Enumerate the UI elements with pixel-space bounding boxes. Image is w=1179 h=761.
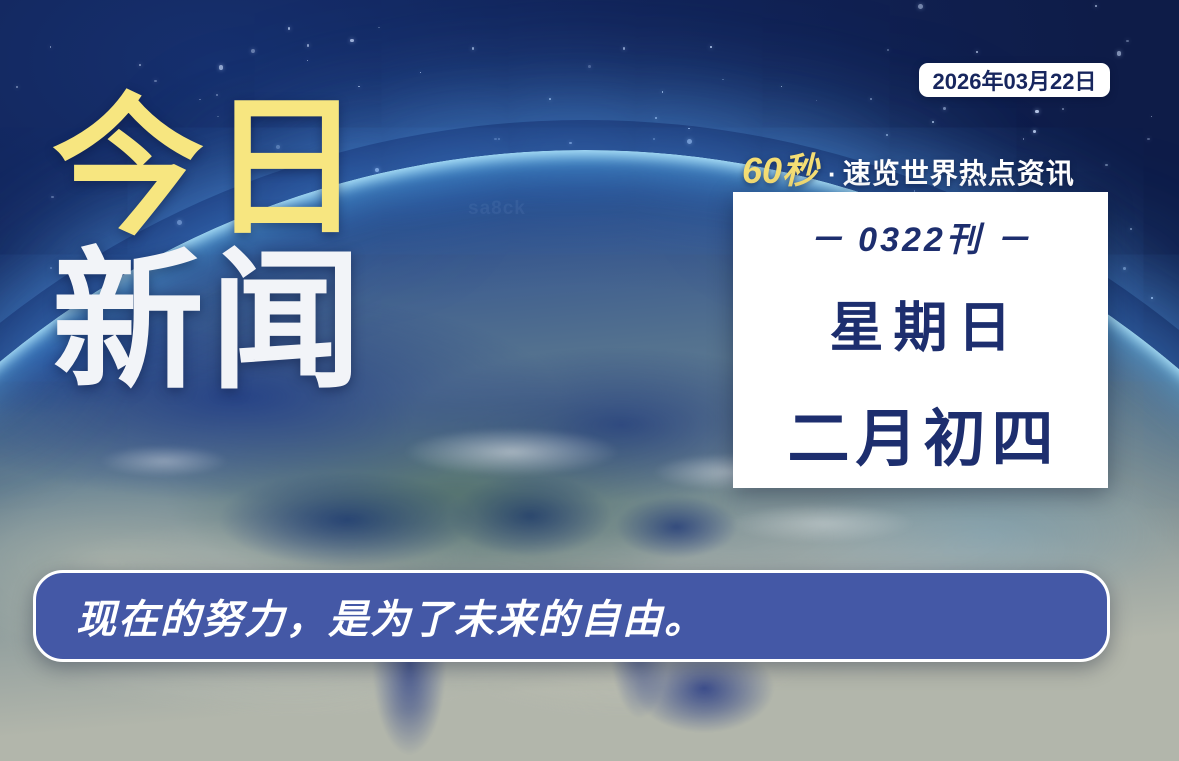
issue-number: － 0322刊 － <box>809 212 1033 261</box>
page-title: 今日 新闻 <box>52 96 368 396</box>
weekday-label: 星期日 <box>820 283 1022 362</box>
quote-text: 现在的努力，是为了未来的自由。 <box>76 587 706 645</box>
tagline-description: 速览世界热点资讯 <box>843 152 1075 192</box>
tagline-separator-icon: · <box>828 159 837 190</box>
date-badge: 2026年03月22日 <box>919 63 1110 97</box>
tagline: 60秒 · 速览世界热点资讯 <box>742 142 1075 194</box>
quote-bar: 现在的努力，是为了未来的自由。 <box>33 570 1110 662</box>
masthead-line-news: 新闻 <box>52 250 368 396</box>
masthead-line-today: 今日 <box>52 96 368 242</box>
news-poster: sa8ck 今日 新闻 2026年03月22日 60秒 · 速览世界热点资讯 －… <box>0 0 1179 761</box>
issue-info-card: － 0322刊 － 星期日 二月初四 <box>733 192 1108 488</box>
tagline-seconds: 60秒 <box>742 142 818 194</box>
lunar-date-label: 二月初四 <box>781 388 1059 478</box>
